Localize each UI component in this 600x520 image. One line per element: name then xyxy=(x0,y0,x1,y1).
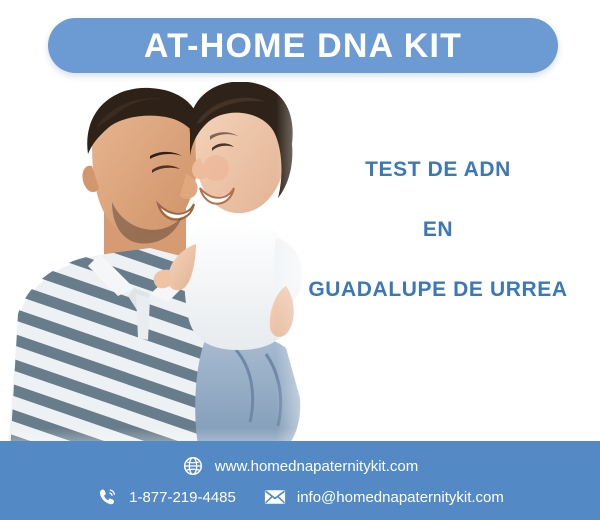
header-pill: AT-HOME DNA KIT xyxy=(48,18,558,73)
footer-row-phone-email: 1-877-219-4485 info@homednapaternitykit.… xyxy=(96,486,504,508)
phone-item[interactable]: 1-877-219-4485 xyxy=(96,486,236,508)
page-title: AT-HOME DNA KIT xyxy=(144,29,462,63)
headline-line-2: EN xyxy=(286,218,590,242)
website-item[interactable]: www.homednapaternitykit.com xyxy=(182,455,418,477)
envelope-icon xyxy=(264,486,286,508)
phone-text: 1-877-219-4485 xyxy=(129,490,236,505)
phone-icon xyxy=(96,486,118,508)
website-text: www.homednapaternitykit.com xyxy=(215,459,418,474)
headline-line-3: GUADALUPE DE URREA xyxy=(286,278,590,302)
email-item[interactable]: info@homednapaternitykit.com xyxy=(264,486,504,508)
footer-contact-bar: www.homednapaternitykit.com 1-877-219-44… xyxy=(0,441,600,520)
headline-block: TEST DE ADN EN GUADALUPE DE URREA xyxy=(286,158,590,302)
headline-line-1: TEST DE ADN xyxy=(286,158,590,182)
globe-icon xyxy=(182,455,204,477)
footer-row-website: www.homednapaternitykit.com xyxy=(182,455,418,477)
at-home-dna-kit-banner: AT-HOME DNA KIT xyxy=(0,0,600,520)
email-text: info@homednapaternitykit.com xyxy=(297,490,504,505)
